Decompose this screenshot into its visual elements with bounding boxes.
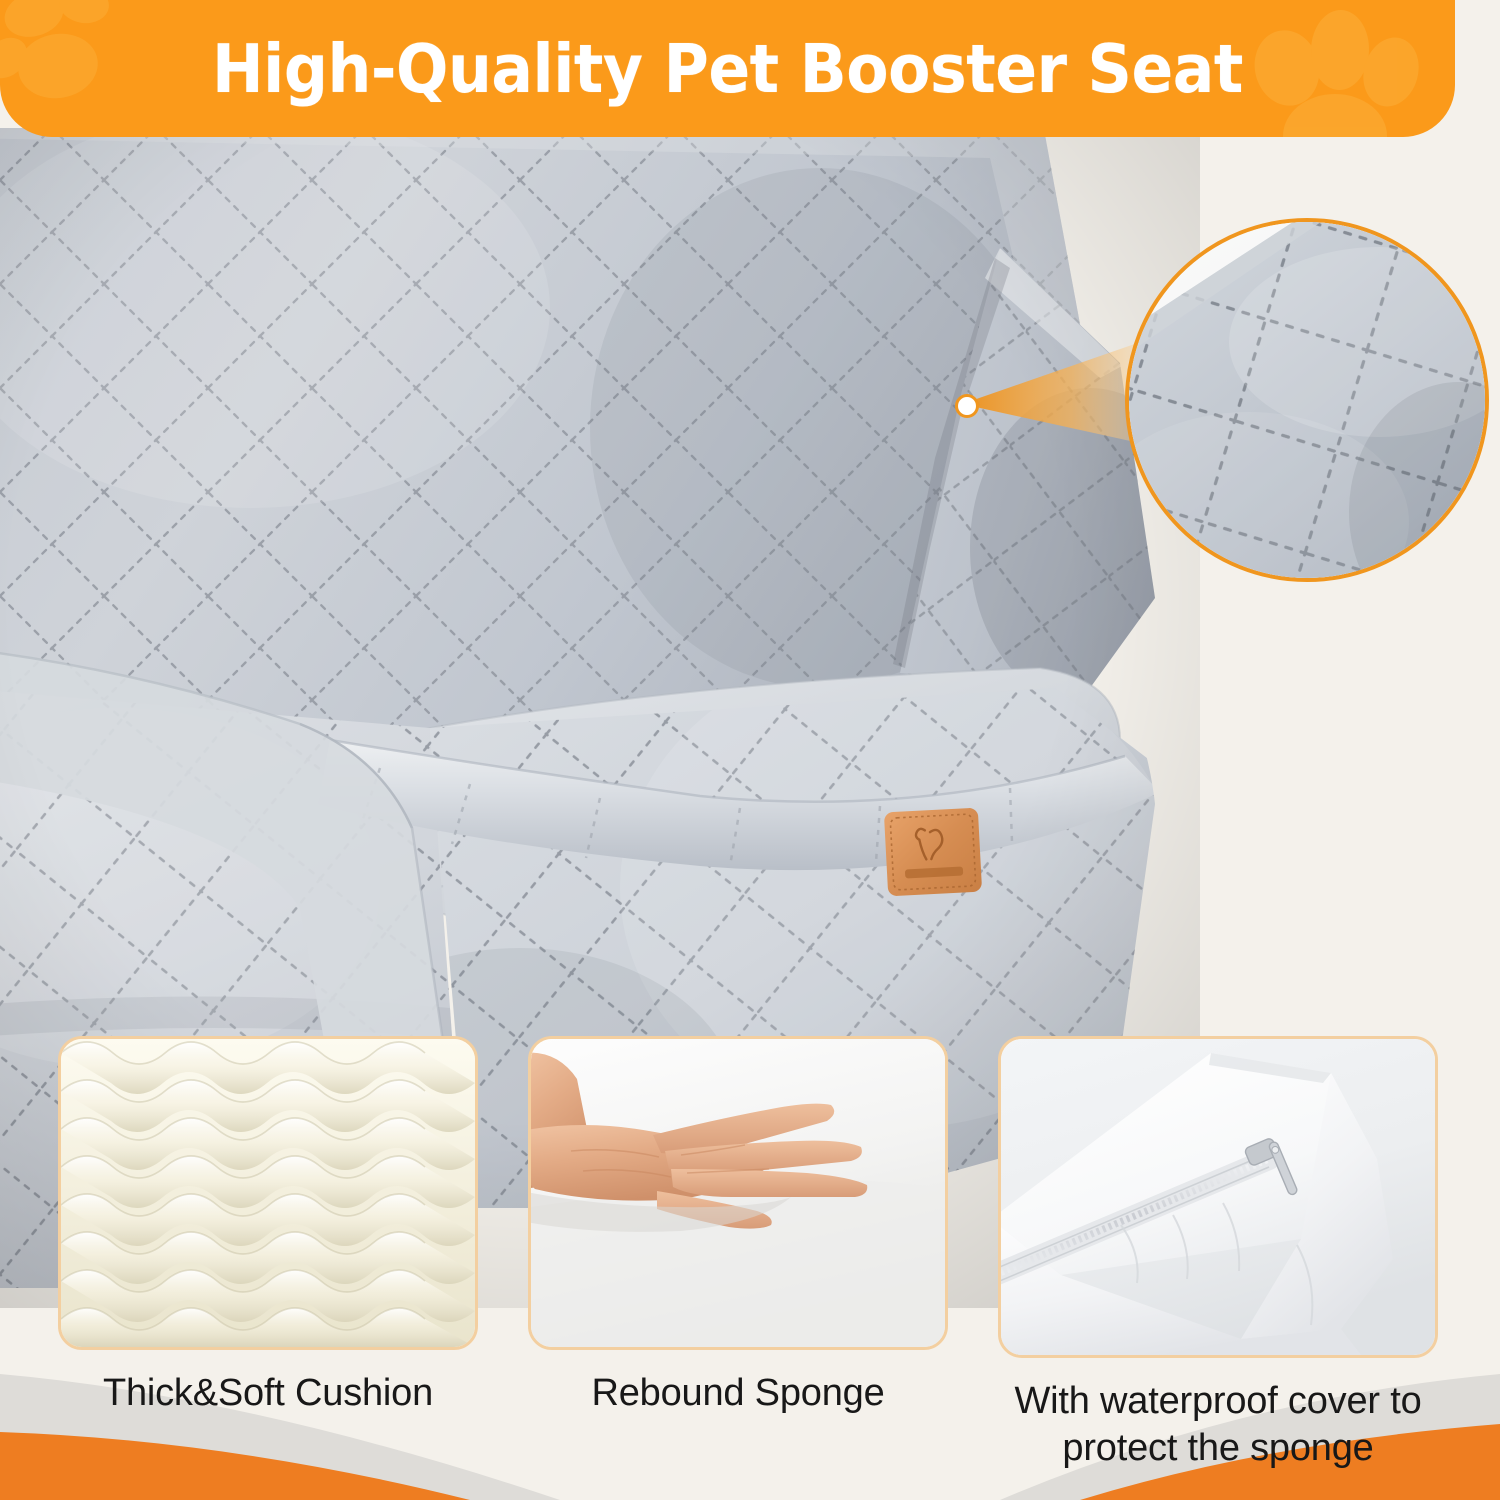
waterproof-cover-image [998, 1036, 1438, 1358]
caption-line-1: With waterproof cover to [1014, 1380, 1421, 1422]
brand-leather-patch [884, 806, 982, 898]
header-banner: High-Quality Pet Booster Seat [0, 0, 1455, 137]
rebound-sponge-image [528, 1036, 948, 1350]
feature-panel-caption: With waterproof cover to protect the spo… [998, 1378, 1438, 1472]
cushion-foam-image [58, 1036, 478, 1350]
magnifier-closeup [1125, 218, 1489, 582]
feature-panels: Thick&Soft Cushion [0, 1036, 1500, 1500]
feature-panel-caption: Rebound Sponge [528, 1370, 948, 1417]
product-infographic: High-Quality Pet Booster Seat .banner{ba… [0, 0, 1500, 1500]
caption-line-2: protect the sponge [1062, 1427, 1373, 1469]
page-title: High-Quality Pet Booster Seat [58, 0, 1397, 137]
magnifier-anchor-dot [955, 394, 979, 418]
feature-panel-caption: Thick&Soft Cushion [58, 1370, 478, 1417]
